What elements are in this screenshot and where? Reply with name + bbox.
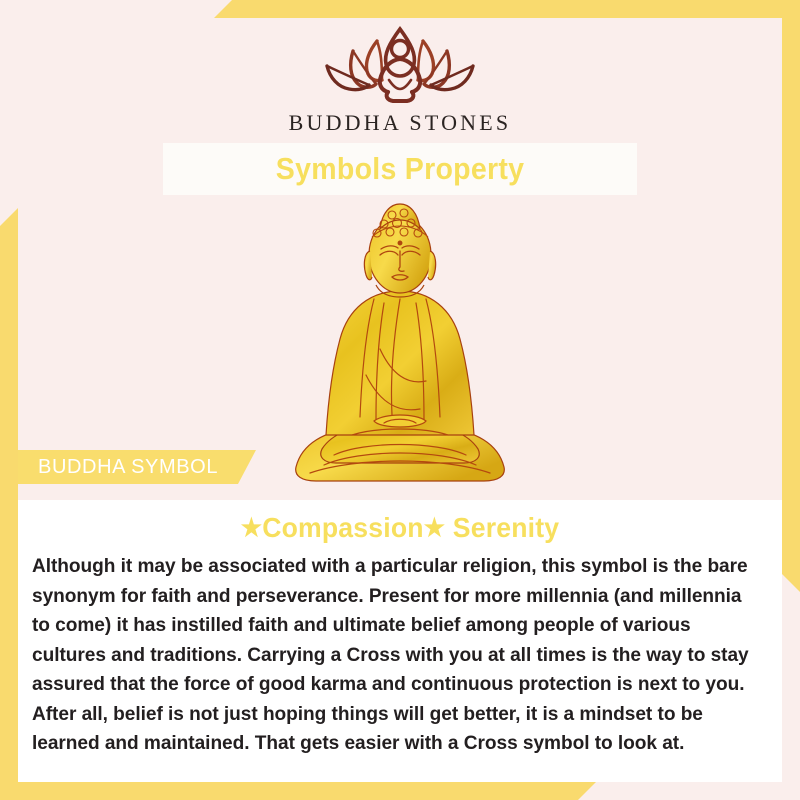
buddha-symbol-ribbon: BUDDHA SYMBOL	[18, 450, 256, 484]
decor-frame-bottom-bar	[0, 782, 596, 800]
page-title: Symbols Property	[276, 151, 525, 187]
content-paragraph: Although it may be associated with a par…	[32, 552, 757, 759]
title-band: Symbols Property	[163, 143, 637, 195]
subtitle-word-serenity: Serenity	[453, 512, 560, 543]
promo-banner-page: BUDDHA STONES Symbols Property	[0, 0, 800, 800]
star-icon-left: ★	[241, 514, 262, 542]
lotus-meditation-icon	[305, 18, 495, 106]
content-panel: ★Compassion★ Serenity Although it may be…	[18, 500, 782, 782]
brand-logo: BUDDHA STONES	[0, 18, 800, 136]
golden-buddha-statue-image	[280, 199, 520, 491]
content-subtitle: ★Compassion★ Serenity	[50, 512, 749, 544]
star-icon-middle: ★	[424, 514, 445, 542]
brand-name: BUDDHA STONES	[289, 110, 512, 136]
decor-frame-top-bar	[214, 0, 800, 18]
ribbon-label: BUDDHA SYMBOL	[38, 456, 218, 479]
subtitle-word-compassion: Compassion	[262, 512, 424, 543]
decor-frame-left-bar	[0, 208, 18, 800]
